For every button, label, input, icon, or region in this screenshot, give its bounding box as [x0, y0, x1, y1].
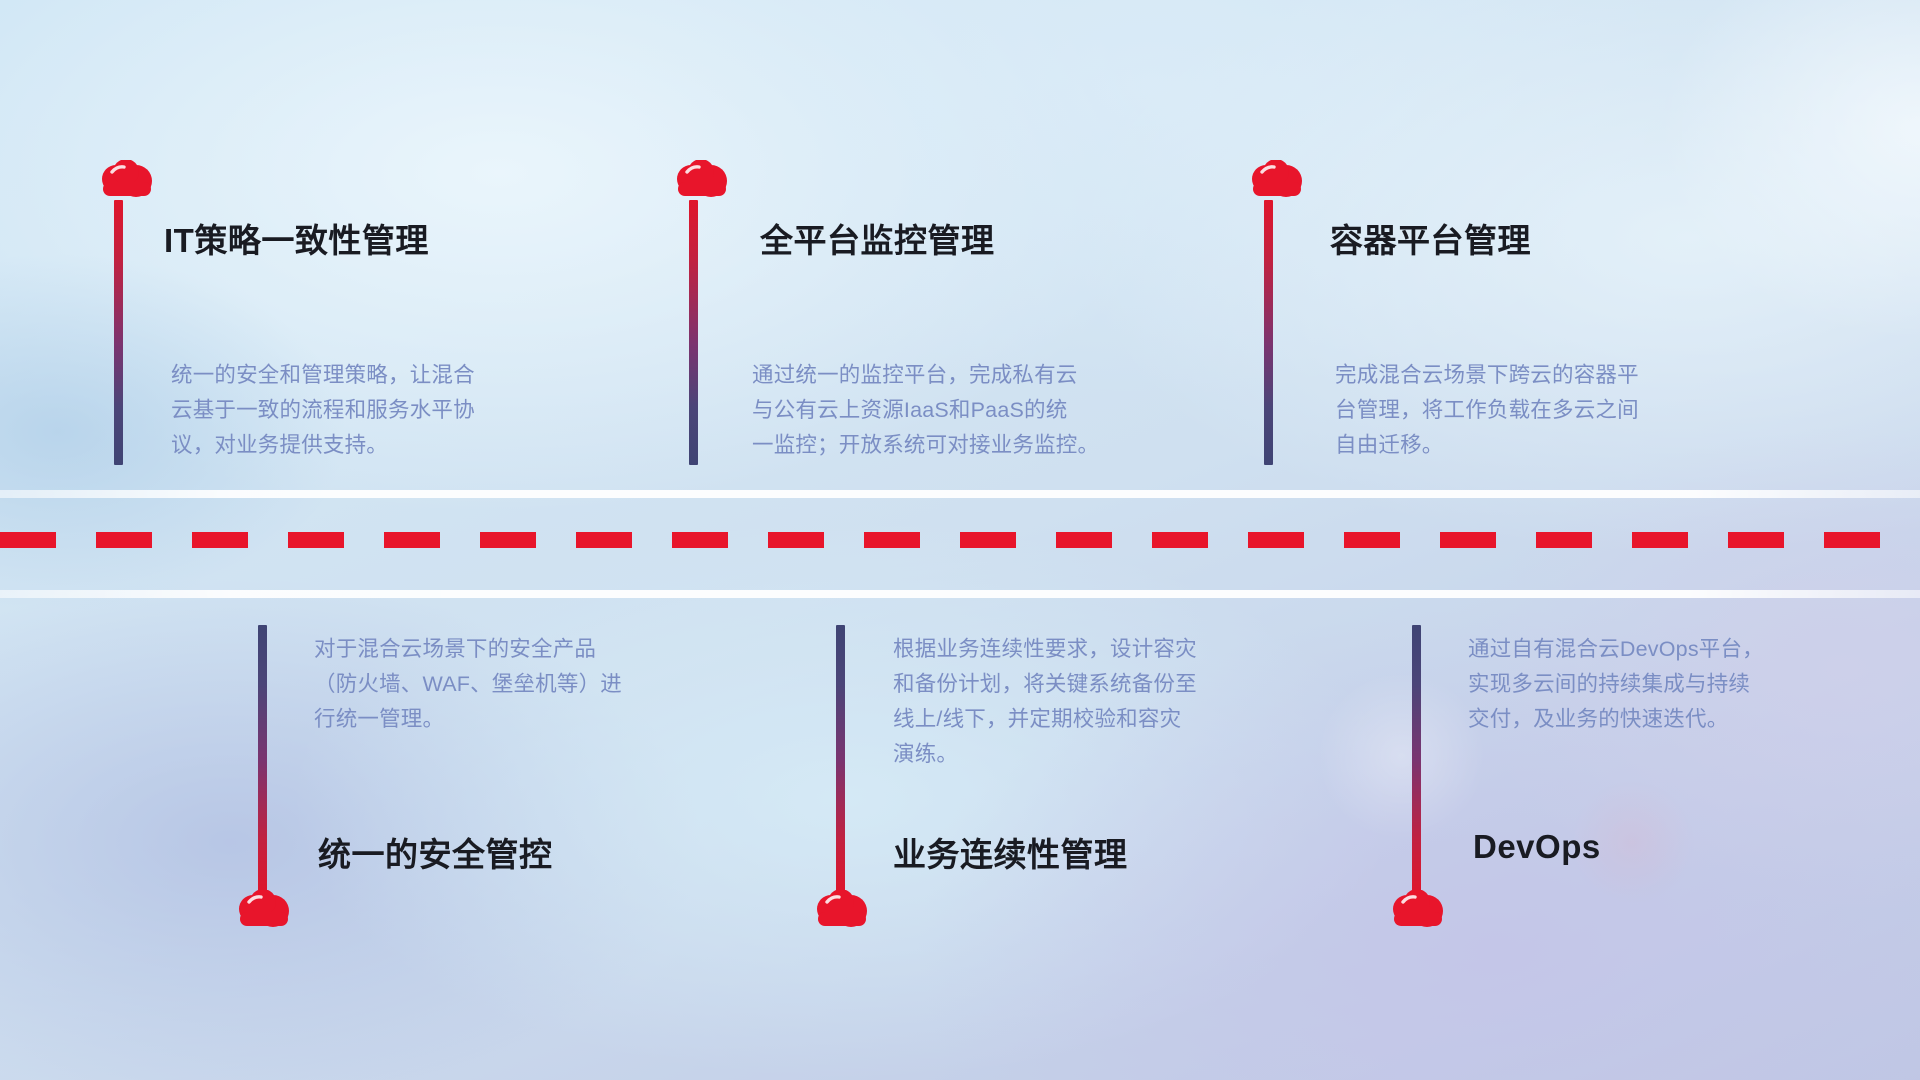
cloud-icon: [232, 890, 296, 934]
bottom-item-2-description: 根据业务连续性要求，设计容灾 和备份计划，将关键系统备份至 线上/线下，并定期校…: [893, 632, 1343, 772]
bottom-item-2-title: 业务连续性管理: [893, 828, 1128, 876]
top-item-3-title: 容器平台管理: [1330, 214, 1531, 262]
divider-band: [0, 480, 1920, 600]
divider-rail-top: [0, 490, 1920, 498]
bottom-item-3-description: 通过自有混合云DevOps平台， 实现多云间的持续集成与持续 交付，及业务的快速…: [1468, 632, 1918, 737]
bottom-item-3-title: DevOps: [1473, 828, 1601, 866]
top-item-2-description: 通过统一的监控平台，完成私有云 与公有云上资源IaaS和PaaS的统 一监控；开…: [752, 358, 1212, 463]
top-item-1-title: IT策略一致性管理: [164, 214, 429, 262]
stem: [689, 200, 698, 465]
stem: [258, 625, 267, 895]
cloud-icon: [1245, 160, 1309, 204]
divider-dashed-line: [0, 532, 1920, 548]
stem: [1412, 625, 1421, 895]
top-item-2-title: 全平台监控管理: [760, 214, 995, 262]
cloud-icon: [670, 160, 734, 204]
bottom-item-1-title: 统一的安全管控: [318, 828, 553, 876]
top-item-3-description: 完成混合云场景下跨云的容器平 台管理，将工作负载在多云之间 自由迁移。: [1335, 358, 1775, 463]
bottom-item-1-description: 对于混合云场景下的安全产品 （防火墙、WAF、堡垒机等）进 行统一管理。: [314, 632, 754, 737]
divider-dashes: [0, 532, 1920, 548]
stem: [114, 200, 123, 465]
top-item-1-description: 统一的安全和管理策略，让混合 云基于一致的流程和服务水平协 议，对业务提供支持。: [171, 358, 611, 463]
cloud-icon: [810, 890, 874, 934]
divider-rail-bottom: [0, 590, 1920, 598]
stem: [1264, 200, 1273, 465]
cloud-icon: [95, 160, 159, 204]
cloud-icon: [1386, 890, 1450, 934]
stem: [836, 625, 845, 895]
